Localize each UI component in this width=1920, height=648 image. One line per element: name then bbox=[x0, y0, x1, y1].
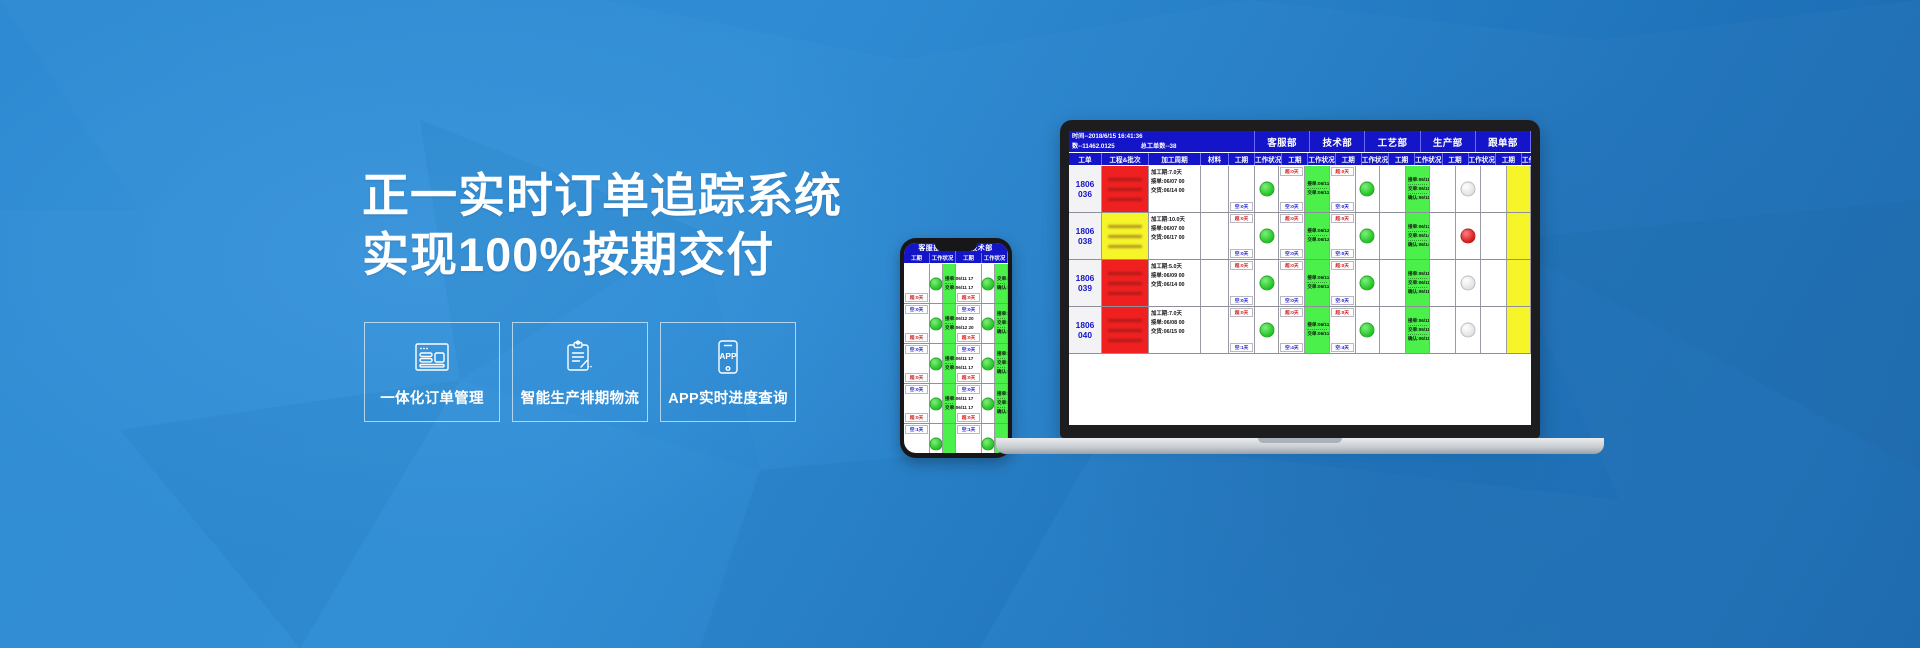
work-order-prefix: 1806 bbox=[1076, 226, 1095, 237]
phone-device: 客服部 技术部 工期 工作状况 工期 工作状况 超:0天接单:06/11 17交… bbox=[900, 238, 1012, 458]
duration-cell-2: 超:0天空:0天 bbox=[1279, 213, 1305, 259]
status-cell-3[interactable] bbox=[1356, 166, 1380, 212]
phone-status-lines: 接单:06/11 17交单:06/11 17 bbox=[943, 344, 955, 383]
col-duration-1: 工期 bbox=[1229, 153, 1255, 165]
work-order-cell: 1806039 bbox=[1069, 260, 1102, 306]
status-lines: 接单:06/11 17交单:06/11 17确认:06/11 17 bbox=[1406, 166, 1429, 212]
phone-status-indicator-dot bbox=[930, 277, 943, 290]
headline-line-1: 正一实时订单追踪系统 bbox=[362, 166, 922, 225]
phone-status-indicator-dot bbox=[930, 357, 943, 370]
status-indicator-dot bbox=[1460, 276, 1475, 291]
duration-cell-4 bbox=[1380, 166, 1406, 212]
status-cell-5[interactable] bbox=[1456, 213, 1480, 259]
phone-status-line-1: 接单:06/11 17 bbox=[997, 351, 1005, 359]
col-status-3: 工作状况 bbox=[1362, 153, 1389, 165]
status-indicator-dot bbox=[1360, 276, 1375, 291]
phone-status-indicator-dot bbox=[982, 437, 995, 450]
phone-status-indicator-dot bbox=[930, 317, 943, 330]
phone-status-line-2: 交单:06/11 17 bbox=[945, 285, 953, 292]
phone-screen[interactable]: 客服部 技术部 工期 工作状况 工期 工作状况 超:0天接单:06/11 17交… bbox=[904, 243, 1008, 453]
cycle-line-2: 接单:06/08 00 bbox=[1151, 319, 1198, 328]
phone-status-indicator-dot bbox=[982, 397, 995, 410]
status-cell-1[interactable] bbox=[1255, 213, 1279, 259]
phone-notch bbox=[935, 243, 977, 251]
duration-cell-1: 空:0天 bbox=[1229, 166, 1255, 212]
status-line-2: 交单:06/14 08 bbox=[1408, 233, 1427, 241]
phone-duration-left-tag: 空:1天 bbox=[905, 425, 928, 434]
phone-status-lines: 接单:06/11 17交单:06/11 17确认:06/11 17 bbox=[995, 384, 1007, 423]
phone-status-cell-3[interactable] bbox=[982, 344, 995, 383]
phone-status-cell-4[interactable]: 接单:06/12 20交单:06/14 08确认:06/14 08 bbox=[995, 304, 1008, 343]
duration-cell-6 bbox=[1481, 213, 1507, 259]
order-tracking-dashboard: 时间--2018/6/15 16:41:36 数--11462.0125总工单数… bbox=[1069, 131, 1531, 425]
work-order-cell: 1806036 bbox=[1069, 166, 1102, 212]
status-lines: 接单:06/12 20交单:06/14 08确认:06/14 08 bbox=[1406, 213, 1429, 259]
meta-count-row: 数--11462.0125总工单数--38 bbox=[1072, 142, 1251, 152]
cycle-line-3: 交货:06/14 00 bbox=[1151, 281, 1198, 290]
feature-card-production-schedule[interactable]: 智能生产排期物流 bbox=[512, 322, 648, 422]
duration-left-tag: 空:0天 bbox=[1331, 296, 1354, 305]
phone-status-lines: 接单:06/11 17交单:06/11 17 bbox=[943, 264, 955, 303]
phone-table-row[interactable]: 超:0天接单:06/11 17交单:06/11 17超:0天交单:06/11 1… bbox=[904, 264, 1008, 304]
cycle-line-1: 加工期:5.0天 bbox=[1151, 263, 1198, 272]
phone-duration-over-tag: 超:0天 bbox=[905, 293, 928, 302]
status-indicator-dot bbox=[1259, 182, 1274, 197]
phone-status-cell-4[interactable]: 接单:06/11 17交单:06/11 17确认:06/11 17 bbox=[995, 344, 1008, 383]
phone-duration-over-tag: 超:0天 bbox=[905, 333, 928, 342]
status-cell-2[interactable]: 接单:06/11 17交单:06/11 17 bbox=[1305, 166, 1329, 212]
phone-duration-cell-2: 空:1天空:4天 bbox=[956, 424, 982, 453]
project-batch-cell bbox=[1102, 166, 1149, 212]
headline-block: 正一实时订单追踪系统 实现100%按期交付 bbox=[362, 166, 922, 284]
phone-status-line-1: 接单:06/12 20 bbox=[997, 311, 1005, 319]
duration-cell-1: 超:0天空:0天 bbox=[1229, 213, 1255, 259]
svg-text:APP: APP bbox=[719, 351, 737, 361]
phone-status-line-3: 确认:06/11 17 bbox=[997, 369, 1005, 376]
dept-process: 工艺部 bbox=[1365, 131, 1420, 152]
phone-status-cell-2[interactable]: 接单:06/11 17交单:06/11 17 bbox=[943, 384, 956, 423]
cycle-line-1: 加工期:10.0天 bbox=[1151, 216, 1198, 225]
clipboard-schedule-icon bbox=[560, 337, 600, 377]
phone-duration-left-tag: 空:0天 bbox=[957, 345, 980, 354]
status-indicator-dot bbox=[1360, 323, 1375, 338]
duration-left-tag: 空:0天 bbox=[1230, 202, 1253, 211]
table-row[interactable]: 1806038加工期:10.0天接单:06/07 00交货:06/17 00超:… bbox=[1069, 213, 1531, 260]
status-indicator-dot bbox=[1259, 276, 1274, 291]
table-row[interactable]: 1806039加工期:5.0天接单:06/09 00交货:06/14 00超:0… bbox=[1069, 260, 1531, 307]
status-cell-2[interactable]: 接单:06/11 17交单:06/11 17 bbox=[1305, 260, 1329, 306]
department-header: 客服部 技术部 工艺部 生产部 跟单部 bbox=[1255, 131, 1531, 152]
status-line-1: 接单:06/11 17 bbox=[1408, 271, 1427, 279]
cycle-line-2: 接单:06/07 00 bbox=[1151, 178, 1198, 187]
phone-duration-cell-2: 超:0天 bbox=[956, 264, 982, 303]
status-cell-4[interactable]: 接单:06/12 20交单:06/14 08确认:06/14 08 bbox=[1406, 213, 1430, 259]
phone-status-lines: 接单:06/11 17交单:06/11 17 bbox=[943, 384, 955, 423]
table-row[interactable]: 1806036加工期:7.0天接单:06/07 00交货:06/14 00空:0… bbox=[1069, 166, 1531, 213]
status-indicator-dot bbox=[1360, 182, 1375, 197]
phone-status-line-1: 接单:06/11 17 bbox=[945, 276, 953, 284]
phone-duration-cell-2: 空:0天超:0天 bbox=[956, 344, 982, 383]
dashboard-topbar: 时间--2018/6/15 16:41:36 数--11462.0125总工单数… bbox=[1069, 131, 1531, 153]
duration-over-tag: 超:0天 bbox=[1331, 261, 1354, 270]
col-project-batch: 工程&批次 bbox=[1102, 153, 1149, 165]
feature-label: 智能生产排期物流 bbox=[521, 387, 639, 408]
phone-col-status-1: 工作状况 bbox=[930, 253, 956, 263]
work-order-prefix: 1806 bbox=[1076, 179, 1095, 190]
status-cell-3[interactable] bbox=[1356, 213, 1380, 259]
project-batch-cell bbox=[1102, 307, 1149, 353]
phone-status-lines: 交单:06/11 17确认:06/11 17 bbox=[995, 264, 1007, 303]
phone-status-cell-1[interactable] bbox=[930, 344, 943, 383]
phone-status-line-1: 接单:06/12 20 bbox=[945, 316, 953, 324]
laptop-lid: 时间--2018/6/15 16:41:36 数--11462.0125总工单数… bbox=[1060, 120, 1540, 438]
phone-duration-left-tag: 空:0天 bbox=[905, 305, 928, 314]
status-line-1: 接单:06/11 17 bbox=[1307, 322, 1326, 330]
phone-status-cell-3[interactable] bbox=[982, 304, 995, 343]
phone-status-cell-1[interactable] bbox=[930, 384, 943, 423]
dashboard-meta: 时间--2018/6/15 16:41:36 数--11462.0125总工单数… bbox=[1069, 131, 1255, 152]
processing-cycle-cell: 加工期:7.0天接单:06/08 00交货:06/15 00 bbox=[1149, 307, 1201, 353]
status-line-1: 接单:06/12 20 bbox=[1408, 224, 1427, 232]
device-group: 客服部 技术部 工期 工作状况 工期 工作状况 超:0天接单:06/11 17交… bbox=[900, 120, 1620, 540]
phone-status-line-1: 接单:06/11 17 bbox=[945, 396, 953, 404]
phone-status-cell-2[interactable]: 接单:06/11 17交单:06/11 17 bbox=[943, 344, 956, 383]
phone-status-cell-3[interactable] bbox=[982, 384, 995, 423]
laptop-base bbox=[996, 438, 1604, 454]
status-cell-4[interactable]: 接单:06/11 17交单:06/11 17确认:06/11 17 bbox=[1406, 307, 1430, 353]
duration-cell-5 bbox=[1430, 166, 1456, 212]
col-duration-6: 工期 bbox=[1496, 153, 1522, 165]
processing-cycle-cell: 加工期:10.0天接单:06/07 00交货:06/17 00 bbox=[1149, 213, 1201, 259]
phone-body: 客服部 技术部 工期 工作状况 工期 工作状况 超:0天接单:06/11 17交… bbox=[900, 238, 1012, 458]
col-duration-2: 工期 bbox=[1282, 153, 1308, 165]
phone-status-cell-1[interactable] bbox=[930, 264, 943, 303]
status-cell-1[interactable] bbox=[1255, 260, 1279, 306]
status-line-3: 确认:06/14 08 bbox=[1408, 242, 1427, 249]
phone-status-line-2: 交单:06/12 20 bbox=[945, 325, 953, 332]
status-line-1: 接单:06/11 17 bbox=[1307, 181, 1326, 189]
duration-over-tag: 超:0天 bbox=[1280, 261, 1303, 270]
phone-duration-cell-1: 空:0天超:0天 bbox=[904, 344, 930, 383]
phone-status-indicator-dot bbox=[982, 357, 995, 370]
meta-count: 数--11462.0125 bbox=[1072, 143, 1115, 150]
status-line-3: 确认:06/11 17 bbox=[1408, 289, 1427, 296]
phone-status-line-2: 交单:06/11 17 bbox=[997, 400, 1005, 408]
status-line-2: 交单:06/11 17 bbox=[1408, 186, 1427, 194]
status-line-1: 接单:06/11 17 bbox=[1307, 275, 1326, 283]
phone-status-line-1: 交单:06/11 17 bbox=[997, 276, 1005, 284]
status-lines: 接单:06/11 17交单:06/11 17 bbox=[1305, 260, 1328, 306]
duration-over-tag: 超:0天 bbox=[1331, 167, 1354, 176]
work-order-suffix: 036 bbox=[1078, 189, 1092, 200]
duration-cell-4 bbox=[1380, 307, 1406, 353]
col-duration-3: 工期 bbox=[1336, 153, 1362, 165]
work-order-suffix: 038 bbox=[1078, 236, 1092, 247]
phone-status-line-1: 接单:06/11 17 bbox=[997, 391, 1005, 399]
phone-status-cell-3[interactable] bbox=[982, 264, 995, 303]
status-line-2: 交单:06/11 17 bbox=[1408, 327, 1427, 335]
phone-status-cell-4[interactable]: 交单:06/11 17确认:06/11 17 bbox=[995, 264, 1008, 303]
project-batch-cell bbox=[1102, 260, 1149, 306]
phone-duration-over-tag: 超:0天 bbox=[905, 413, 928, 422]
status-cell-3[interactable] bbox=[1356, 260, 1380, 306]
feature-card-app-progress[interactable]: APP APP实时进度查询 bbox=[660, 322, 796, 422]
phone-status-cell-4[interactable]: 接单:06/11 17交单:06/11 17确认:06/11 17 bbox=[995, 384, 1008, 423]
status-line-2: 交单:06/11 17 bbox=[1307, 190, 1326, 197]
status-cell-5[interactable] bbox=[1456, 307, 1480, 353]
duration-cell-5 bbox=[1430, 307, 1456, 353]
duration-cell-6 bbox=[1481, 307, 1507, 353]
mobile-app-icon: APP bbox=[708, 337, 748, 377]
phone-table-row[interactable]: 空:0天超:0天接单:06/11 17交单:06/11 17空:0天超:0天接单… bbox=[904, 384, 1008, 424]
work-order-prefix: 1806 bbox=[1076, 273, 1095, 284]
laptop-device: 时间--2018/6/15 16:41:36 数--11462.0125总工单数… bbox=[1060, 120, 1604, 454]
phone-status-indicator-dot bbox=[930, 397, 943, 410]
meta-time: 时间--2018/6/15 16:41:36 bbox=[1072, 132, 1251, 142]
phone-status-line-2: 交单:06/11 17 bbox=[945, 365, 953, 372]
dashboard-row-list: 1806036加工期:7.0天接单:06/07 00交货:06/14 00空:0… bbox=[1069, 166, 1531, 354]
duration-cell-2: 超:0天空:0天 bbox=[1279, 166, 1305, 212]
status-line-2: 交单:06/12 20 bbox=[1307, 237, 1326, 244]
duration-cell-4 bbox=[1380, 213, 1406, 259]
phone-duration-cell-1: 空:0天超:0天 bbox=[904, 384, 930, 423]
phone-status-lines: 接单:06/12 20交单:06/14 08确认:06/14 08 bbox=[995, 304, 1007, 343]
col-status-6: 工作状况 bbox=[1522, 153, 1531, 165]
status-cell-6[interactable] bbox=[1507, 213, 1531, 259]
meta-total-orders: 总工单数--38 bbox=[1141, 143, 1177, 150]
dept-customer-service: 客服部 bbox=[1255, 131, 1310, 152]
phone-duration-left-tag: 空:1天 bbox=[957, 425, 980, 434]
material-cell bbox=[1201, 307, 1229, 353]
status-cell-2[interactable]: 接单:06/11 17交单:06/11 17 bbox=[1305, 307, 1329, 353]
duration-cell-3: 超:0天空:0天 bbox=[1330, 260, 1356, 306]
feature-label: APP实时进度查询 bbox=[668, 387, 788, 408]
duration-cell-2: 超:0天空:0天 bbox=[1279, 260, 1305, 306]
duration-over-tag: 超:0天 bbox=[1230, 261, 1253, 270]
duration-cell-5 bbox=[1430, 260, 1456, 306]
phone-duration-cell-1: 超:0天 bbox=[904, 264, 930, 303]
status-line-2: 交单:06/11 17 bbox=[1408, 280, 1427, 288]
duration-left-tag: 空:0天 bbox=[1280, 202, 1303, 211]
column-header-row: 工单 工程&批次 加工周期 材料 工期工作状况工期工作状况工期工作状况工期工作状… bbox=[1069, 153, 1531, 166]
status-cell-1[interactable] bbox=[1255, 166, 1279, 212]
status-lines: 接单:06/11 17交单:06/11 17确认:06/11 17 bbox=[1406, 260, 1429, 306]
status-line-2: 交单:06/11 17 bbox=[1307, 284, 1326, 291]
phone-status-cell-2[interactable]: 接单:06/12 20交单:06/12 20 bbox=[943, 304, 956, 343]
phone-status-line-2: 交单:06/14 08 bbox=[997, 320, 1005, 328]
headline-line-2: 实现100%按期交付 bbox=[362, 225, 922, 284]
phone-col-duration-1: 工期 bbox=[904, 253, 930, 263]
phone-status-line-3: 确认:06/14 08 bbox=[997, 329, 1005, 336]
feature-label: 一体化订单管理 bbox=[380, 387, 484, 408]
duration-left-tag: 空:0天 bbox=[1331, 249, 1354, 258]
col-work-order: 工单 bbox=[1069, 153, 1102, 165]
project-batch-cell bbox=[1102, 213, 1149, 259]
status-cell-6[interactable] bbox=[1507, 307, 1531, 353]
duration-left-tag: 空:4天 bbox=[1331, 343, 1354, 352]
phone-status-indicator-dot bbox=[982, 277, 995, 290]
status-lines: 接单:06/11 17交单:06/11 17确认:06/11 17 bbox=[1406, 307, 1429, 353]
status-indicator-dot bbox=[1460, 182, 1475, 197]
duration-over-tag: 超:0天 bbox=[1230, 308, 1253, 317]
phone-status-cell-2[interactable] bbox=[943, 424, 956, 453]
duration-cell-6 bbox=[1481, 166, 1507, 212]
phone-dashboard: 客服部 技术部 工期 工作状况 工期 工作状况 超:0天接单:06/11 17交… bbox=[904, 243, 1008, 453]
status-lines: 接单:06/12 20交单:06/12 20 bbox=[1305, 213, 1328, 259]
feature-card-order-management[interactable]: 一体化订单管理 bbox=[364, 322, 500, 422]
dept-technology: 技术部 bbox=[1310, 131, 1365, 152]
cycle-line-2: 接单:06/07 00 bbox=[1151, 225, 1198, 234]
phone-column-header: 工期 工作状况 工期 工作状况 bbox=[904, 253, 1008, 264]
status-line-1: 接单:06/11 17 bbox=[1408, 318, 1427, 326]
duration-cell-1: 超:0天空:1天 bbox=[1229, 307, 1255, 353]
duration-cell-3: 超:0天空:4天 bbox=[1330, 307, 1356, 353]
duration-over-tag: 超:0天 bbox=[1280, 308, 1303, 317]
dept-production: 生产部 bbox=[1421, 131, 1476, 152]
phone-duration-over-tag: 超:0天 bbox=[957, 293, 980, 302]
status-lines: 接单:06/11 17交单:06/11 17 bbox=[1305, 307, 1328, 353]
status-cell-3[interactable] bbox=[1356, 307, 1380, 353]
work-order-suffix: 039 bbox=[1078, 283, 1092, 294]
status-cell-5[interactable] bbox=[1456, 166, 1480, 212]
table-row[interactable]: 1806040加工期:7.0天接单:06/08 00交货:06/15 00超:0… bbox=[1069, 307, 1531, 354]
cycle-line-3: 交货:06/15 00 bbox=[1151, 328, 1198, 337]
duration-left-tag: 空:0天 bbox=[1230, 296, 1253, 305]
dept-column-headers: 工期工作状况工期工作状况工期工作状况工期工作状况工期工作状况工期工作状况 bbox=[1229, 153, 1531, 165]
duration-cell-6 bbox=[1481, 260, 1507, 306]
duration-over-tag: 超:0天 bbox=[1280, 214, 1303, 223]
status-indicator-dot bbox=[1259, 229, 1274, 244]
col-duration-4: 工期 bbox=[1389, 153, 1415, 165]
duration-cell-1: 超:0天空:0天 bbox=[1229, 260, 1255, 306]
work-order-prefix: 1806 bbox=[1076, 320, 1095, 331]
phone-duration-over-tag: 超:0天 bbox=[905, 373, 928, 382]
status-line-3: 确认:06/11 17 bbox=[1408, 195, 1427, 202]
duration-left-tag: 空:0天 bbox=[1280, 249, 1303, 258]
col-status-1: 工作状况 bbox=[1255, 153, 1282, 165]
status-cell-4[interactable]: 接单:06/11 17交单:06/11 17确认:06/11 17 bbox=[1406, 166, 1430, 212]
phone-status-indicator-dot bbox=[930, 437, 943, 450]
status-line-3: 确认:06/11 17 bbox=[1408, 336, 1427, 343]
status-line-2: 交单:06/11 17 bbox=[1307, 331, 1326, 338]
phone-table-row[interactable]: 空:0天超:0天接单:06/12 20交单:06/12 20空:0天超:0天接单… bbox=[904, 304, 1008, 344]
duration-over-tag: 超:0天 bbox=[1331, 214, 1354, 223]
laptop-screen[interactable]: 时间--2018/6/15 16:41:36 数--11462.0125总工单数… bbox=[1069, 131, 1531, 425]
col-status-4: 工作状况 bbox=[1415, 153, 1442, 165]
phone-duration-over-tag: 超:0天 bbox=[957, 413, 980, 422]
status-cell-2[interactable]: 接单:06/12 20交单:06/12 20 bbox=[1305, 213, 1329, 259]
duration-over-tag: 超:0天 bbox=[1230, 214, 1253, 223]
phone-col-status-2: 工作状况 bbox=[982, 253, 1008, 263]
duration-over-tag: 超:0天 bbox=[1331, 308, 1354, 317]
duration-cell-3: 超:0天空:0天 bbox=[1330, 213, 1356, 259]
phone-status-line-2: 确认:06/11 17 bbox=[997, 285, 1005, 292]
dept-merchandising: 跟单部 bbox=[1476, 131, 1531, 152]
phone-table-row[interactable]: 空:0天超:0天接单:06/11 17交单:06/11 17空:0天超:0天接单… bbox=[904, 344, 1008, 384]
status-indicator-dot bbox=[1460, 323, 1475, 338]
status-cell-6[interactable] bbox=[1507, 166, 1531, 212]
phone-status-cell-3[interactable] bbox=[982, 424, 995, 453]
phone-status-line-1: 接单:06/11 17 bbox=[945, 356, 953, 364]
col-material: 材料 bbox=[1201, 153, 1229, 165]
col-status-2: 工作状况 bbox=[1308, 153, 1335, 165]
phone-status-cell-1[interactable] bbox=[930, 304, 943, 343]
status-cell-5[interactable] bbox=[1456, 260, 1480, 306]
status-indicator-dot bbox=[1360, 229, 1375, 244]
phone-duration-cell-1: 空:0天超:0天 bbox=[904, 304, 930, 343]
work-order-suffix: 040 bbox=[1078, 330, 1092, 341]
status-lines: 接单:06/11 17交单:06/11 17 bbox=[1305, 166, 1328, 212]
phone-duration-cell-2: 空:0天超:0天 bbox=[956, 304, 982, 343]
material-cell bbox=[1201, 213, 1229, 259]
duration-left-tag: 空:0天 bbox=[1280, 296, 1303, 305]
phone-duration-left-tag: 空:0天 bbox=[957, 305, 980, 314]
phone-status-lines: 接单:06/11 17交单:06/11 17确认:06/11 17 bbox=[995, 344, 1007, 383]
phone-duration-left-tag: 空:0天 bbox=[957, 385, 980, 394]
phone-status-cell-1[interactable] bbox=[930, 424, 943, 453]
status-line-1: 接单:06/12 20 bbox=[1307, 228, 1326, 236]
status-cell-6[interactable] bbox=[1507, 260, 1531, 306]
phone-duration-left-tag: 空:0天 bbox=[905, 345, 928, 354]
material-cell bbox=[1201, 166, 1229, 212]
phone-status-lines: 接单:06/12 20交单:06/12 20 bbox=[943, 304, 955, 343]
cycle-line-1: 加工期:7.0天 bbox=[1151, 169, 1198, 178]
phone-status-line-2: 交单:06/11 17 bbox=[945, 405, 953, 412]
status-indicator-dot bbox=[1460, 229, 1475, 244]
cycle-line-3: 交货:06/14 00 bbox=[1151, 187, 1198, 196]
cycle-line-2: 接单:06/09 00 bbox=[1151, 272, 1198, 281]
duration-left-tag: 空:0天 bbox=[1230, 249, 1253, 258]
phone-status-indicator-dot bbox=[982, 317, 995, 330]
col-duration-5: 工期 bbox=[1443, 153, 1469, 165]
phone-row-list: 超:0天接单:06/11 17交单:06/11 17超:0天交单:06/11 1… bbox=[904, 264, 1008, 453]
duration-left-tag: 空:0天 bbox=[1331, 202, 1354, 211]
phone-duration-cell-2: 空:0天超:0天 bbox=[956, 384, 982, 423]
phone-duration-cell-1: 空:1天 bbox=[904, 424, 930, 453]
hero-banner: 正一实时订单追踪系统 实现100%按期交付 一体化订单管理 bbox=[0, 0, 1920, 648]
processing-cycle-cell: 加工期:5.0天接单:06/09 00交货:06/14 00 bbox=[1149, 260, 1201, 306]
status-cell-4[interactable]: 接单:06/11 17交单:06/11 17确认:06/11 17 bbox=[1406, 260, 1430, 306]
duration-cell-5 bbox=[1430, 213, 1456, 259]
phone-status-cell-2[interactable]: 接单:06/11 17交单:06/11 17 bbox=[943, 264, 956, 303]
phone-table-row[interactable]: 空:1天空:1天空:4天 bbox=[904, 424, 1008, 453]
duration-cell-2: 超:0天空:4天 bbox=[1279, 307, 1305, 353]
duration-cell-4 bbox=[1380, 260, 1406, 306]
duration-over-tag: 超:0天 bbox=[1280, 167, 1303, 176]
duration-left-tag: 空:1天 bbox=[1230, 343, 1253, 352]
duration-cell-3: 超:0天空:0天 bbox=[1330, 166, 1356, 212]
status-cell-1[interactable] bbox=[1255, 307, 1279, 353]
phone-duration-over-tag: 超:0天 bbox=[957, 333, 980, 342]
processing-cycle-cell: 加工期:7.0天接单:06/07 00交货:06/14 00 bbox=[1149, 166, 1201, 212]
phone-status-line-3: 确认:06/11 17 bbox=[997, 409, 1005, 416]
status-indicator-dot bbox=[1259, 323, 1274, 338]
work-order-cell: 1806040 bbox=[1069, 307, 1102, 353]
phone-duration-over-tag: 超:0天 bbox=[957, 373, 980, 382]
cycle-line-3: 交货:06/17 00 bbox=[1151, 234, 1198, 243]
phone-duration-left-tag: 空:0天 bbox=[905, 385, 928, 394]
material-cell bbox=[1201, 260, 1229, 306]
duration-left-tag: 空:4天 bbox=[1280, 343, 1303, 352]
col-processing-cycle: 加工周期 bbox=[1149, 153, 1201, 165]
status-line-1: 接单:06/11 17 bbox=[1408, 177, 1427, 185]
cycle-line-1: 加工期:7.0天 bbox=[1151, 310, 1198, 319]
col-status-5: 工作状况 bbox=[1469, 153, 1496, 165]
order-management-icon bbox=[412, 337, 452, 377]
work-order-cell: 1806038 bbox=[1069, 213, 1102, 259]
feature-list: 一体化订单管理 智能生产排期物流 APP APP实时进度查询 bbox=[364, 322, 796, 422]
phone-col-duration-2: 工期 bbox=[956, 253, 982, 263]
